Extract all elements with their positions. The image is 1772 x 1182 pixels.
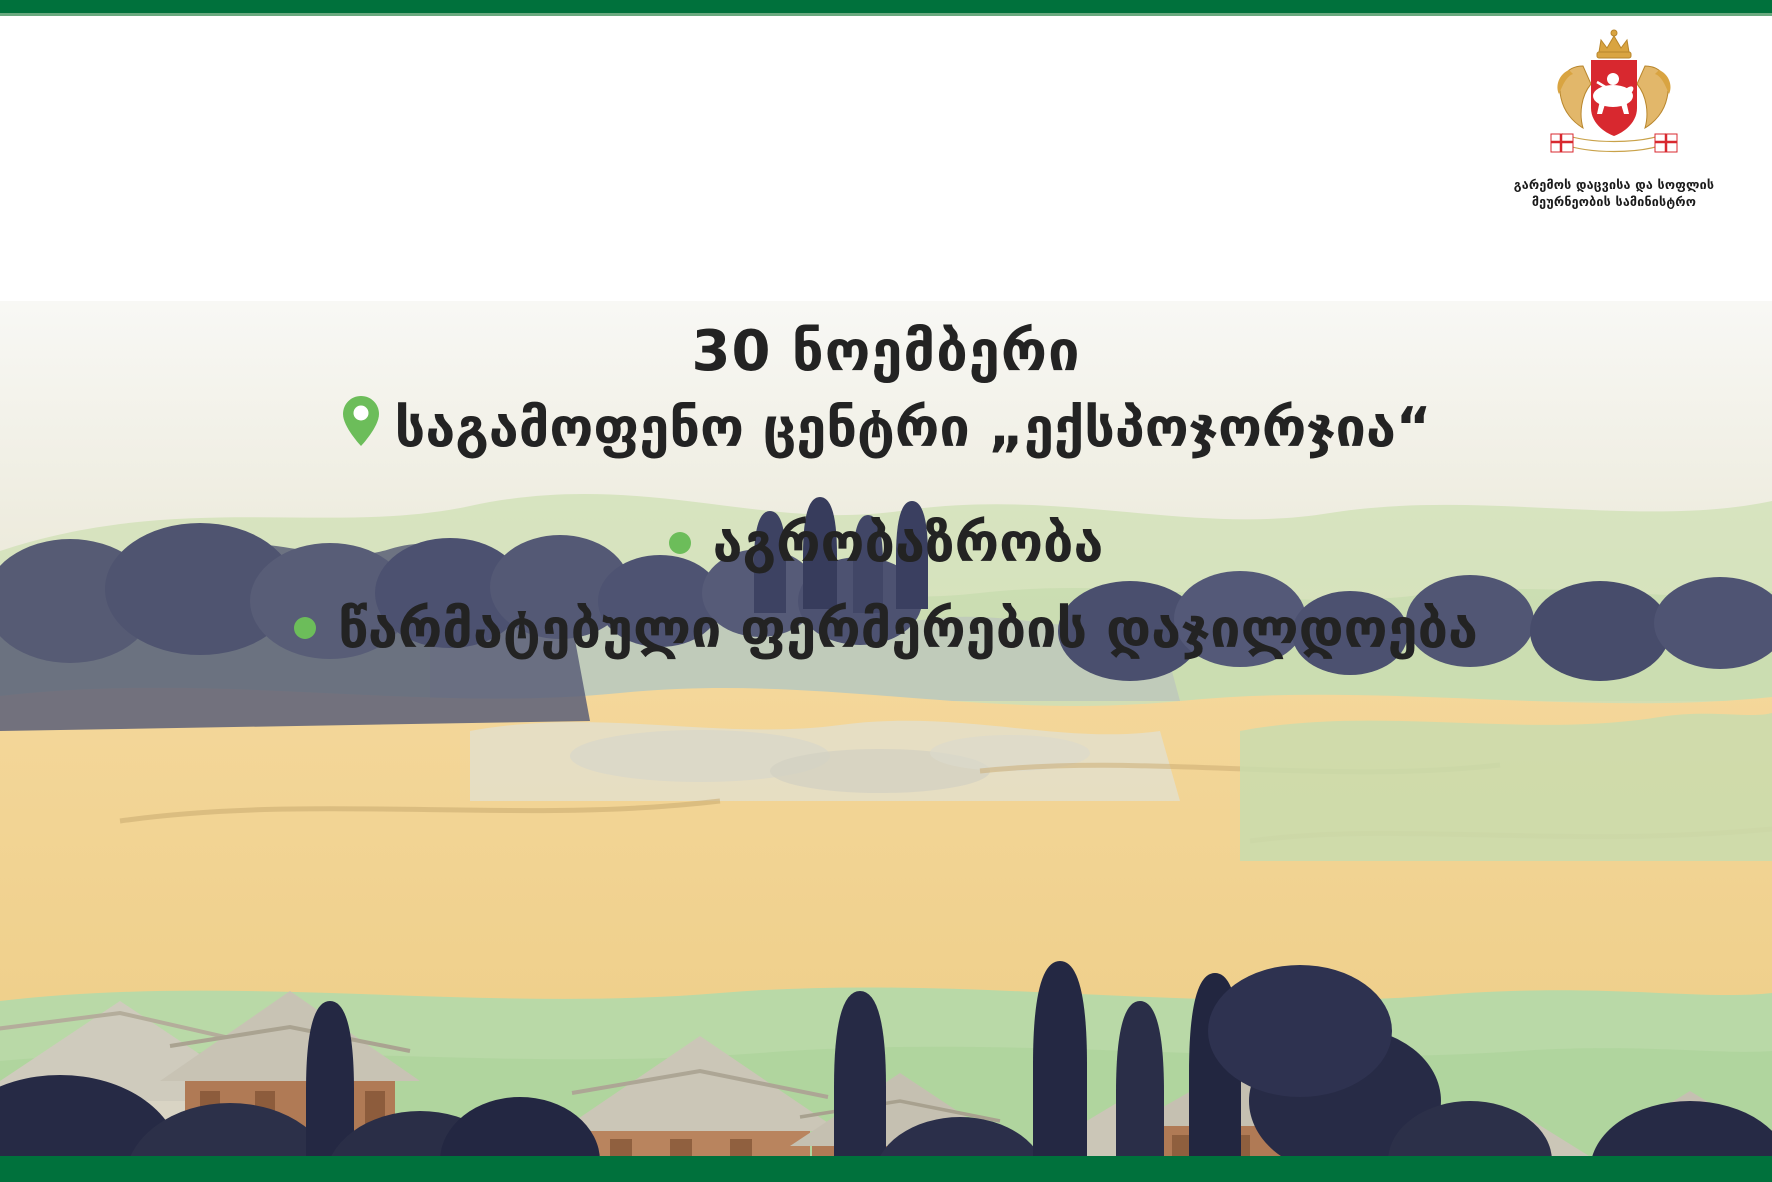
map-pin-icon: [341, 394, 381, 463]
ministry-name: გარემოს დაცვისა და სოფლის მეურნეობის სამ…: [1504, 177, 1724, 211]
list-item: წარმატებული ფერმერების დაჯილდოება: [0, 595, 1772, 663]
program-item-label: აგრობაზრობა: [713, 509, 1104, 577]
top-green-bar: [0, 0, 1772, 13]
program-item-label: წარმატებული ფერმერების დაჯილდოება: [338, 595, 1478, 663]
bullet-dot-icon: [294, 617, 316, 639]
bottom-green-bar: [0, 1156, 1772, 1182]
ministry-line-2: მეურნეობის სამინისტრო: [1504, 194, 1724, 211]
georgia-coat-of-arms-icon: [1539, 22, 1689, 172]
ministry-emblem: გარემოს დაცვისა და სოფლის მეურნეობის სამ…: [1504, 22, 1724, 211]
event-venue-row: საგამოფენო ცენტრი „ექსპოჯორჯია“: [0, 394, 1772, 463]
list-item: აგრობაზრობა: [0, 509, 1772, 577]
top-green-bar-thin: [0, 13, 1772, 16]
event-date: 30 ნოემბერი: [0, 320, 1772, 384]
event-program-list: აგრობაზრობა წარმატებული ფერმერების დაჯილ…: [0, 509, 1772, 662]
event-venue-label: საგამოფენო ცენტრი „ექსპოჯორჯია“: [395, 396, 1432, 461]
poster-root: 2024 ფერმერის დღე: [0, 0, 1772, 1182]
event-details: 30 ნოემბერი საგამოფენო ცენტრი „ექსპოჯორჯ…: [0, 320, 1772, 680]
ministry-line-1: გარემოს დაცვისა და სოფლის: [1504, 177, 1724, 194]
bullet-dot-icon: [669, 532, 691, 554]
